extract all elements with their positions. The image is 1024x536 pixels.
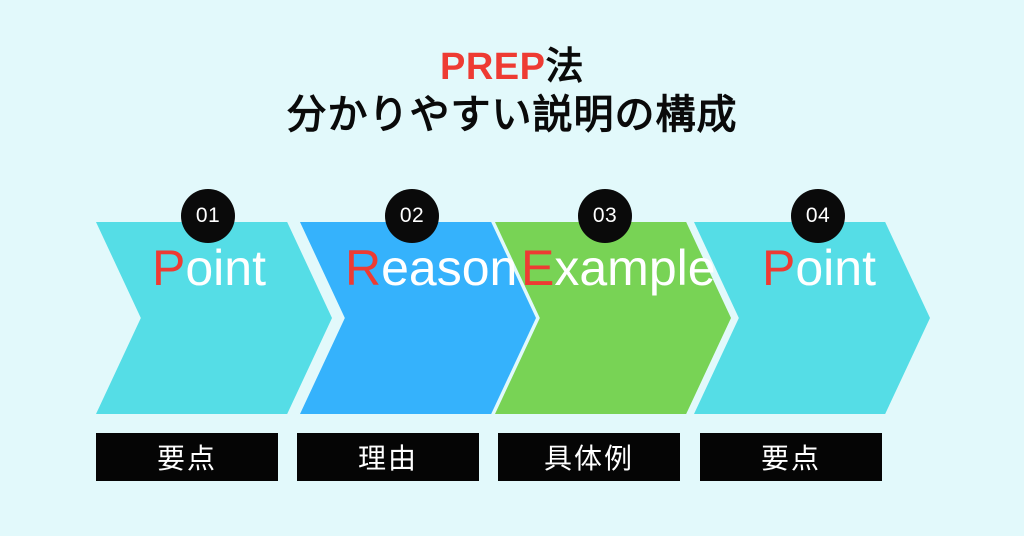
- step-word-4: Point: [762, 239, 876, 297]
- step-number-badge-1: 01: [181, 189, 235, 243]
- step-number-badge-4: 04: [791, 189, 845, 243]
- step-initial-2: R: [345, 240, 381, 296]
- step-tag-2: 理由: [297, 433, 479, 481]
- step-tag-1: 要点: [96, 433, 278, 481]
- title-accent-prep: PREP: [440, 46, 545, 88]
- step-initial-4: P: [762, 240, 795, 296]
- title-suffix-ho: 法: [545, 46, 584, 88]
- page-title-line1: PREP法: [0, 48, 1024, 86]
- step-word-rest-3: xample: [554, 240, 715, 296]
- step-initial-3: E: [521, 240, 554, 296]
- step-tag-4: 要点: [700, 433, 882, 481]
- step-number-badge-2: 02: [385, 189, 439, 243]
- step-word-1: Point: [152, 239, 266, 297]
- step-word-rest-2: eason: [381, 240, 517, 296]
- step-word-rest-1: oint: [185, 240, 266, 296]
- slide-canvas: PREP法 分かりやすい説明の構成 Point Reason Example P…: [0, 0, 1024, 536]
- step-word-rest-4: oint: [795, 240, 876, 296]
- step-number-badge-3: 03: [578, 189, 632, 243]
- step-word-2: Reason: [345, 239, 517, 297]
- title-block: PREP法 分かりやすい説明の構成: [0, 48, 1024, 135]
- step-tag-3: 具体例: [498, 433, 680, 481]
- step-initial-1: P: [152, 240, 185, 296]
- step-word-3: Example: [521, 239, 716, 297]
- page-subtitle: 分かりやすい説明の構成: [0, 95, 1024, 135]
